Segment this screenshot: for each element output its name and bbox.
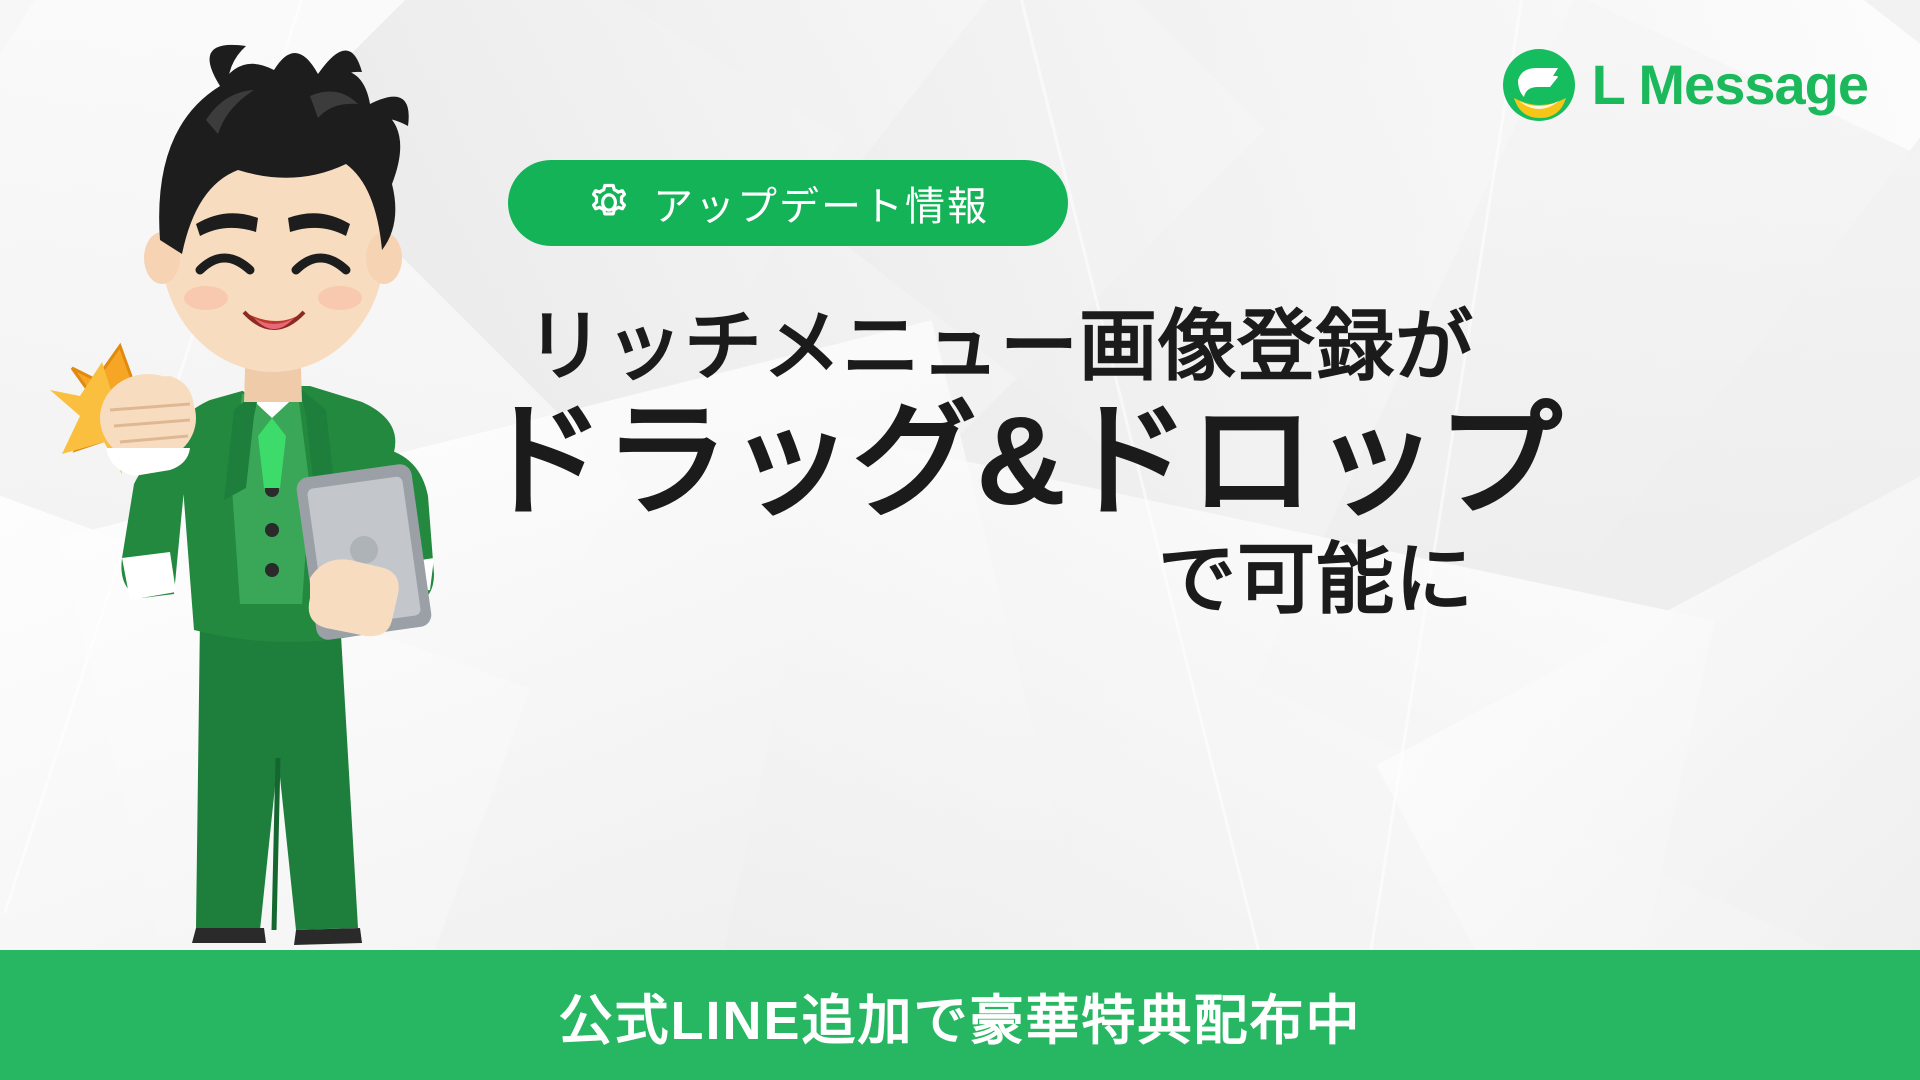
- update-info-badge-label: アップデート情報: [653, 174, 989, 232]
- gear-icon: [587, 181, 631, 225]
- footer-cta-text: 公式LINE追加で豪華特典配布中: [558, 976, 1361, 1055]
- l-message-bird-logo-icon: [1502, 48, 1576, 122]
- headline-block: リッチメニュー画像登録が ドラッグ&ドロップ で可能に: [480, 300, 1520, 627]
- update-info-badge[interactable]: アップデート情報: [508, 160, 1068, 246]
- footer-cta-bar[interactable]: 公式LINE追加で豪華特典配布中: [0, 950, 1920, 1080]
- headline-line-2: ドラッグ&ドロップ: [480, 394, 1520, 529]
- headline-line-3: で可能に: [480, 533, 1520, 627]
- brand-logo[interactable]: L Message: [1502, 48, 1868, 122]
- brand-logo-text: L Message: [1592, 57, 1868, 113]
- headline-line-1: リッチメニュー画像登録が: [480, 300, 1520, 392]
- promo-banner: L Message アップデート情報 リッチメニュー画像登録が ドラッグ&ドロッ…: [0, 0, 1920, 1080]
